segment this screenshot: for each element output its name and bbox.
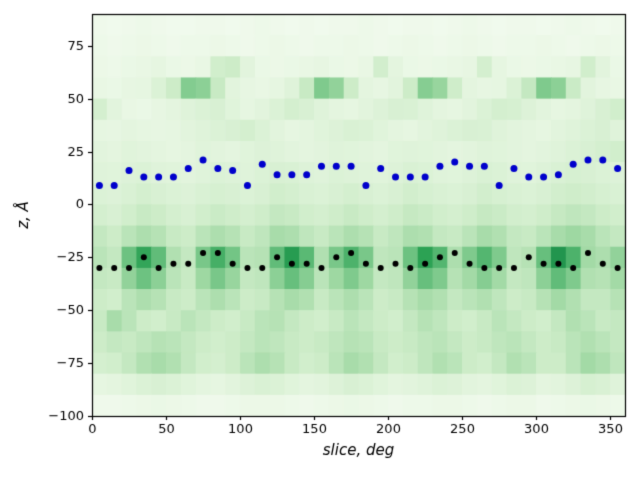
heatmap-plot [0,0,640,480]
figure-canvas-container: slice, deg z, Å 0 50 100 150 200 250 300… [0,0,640,480]
